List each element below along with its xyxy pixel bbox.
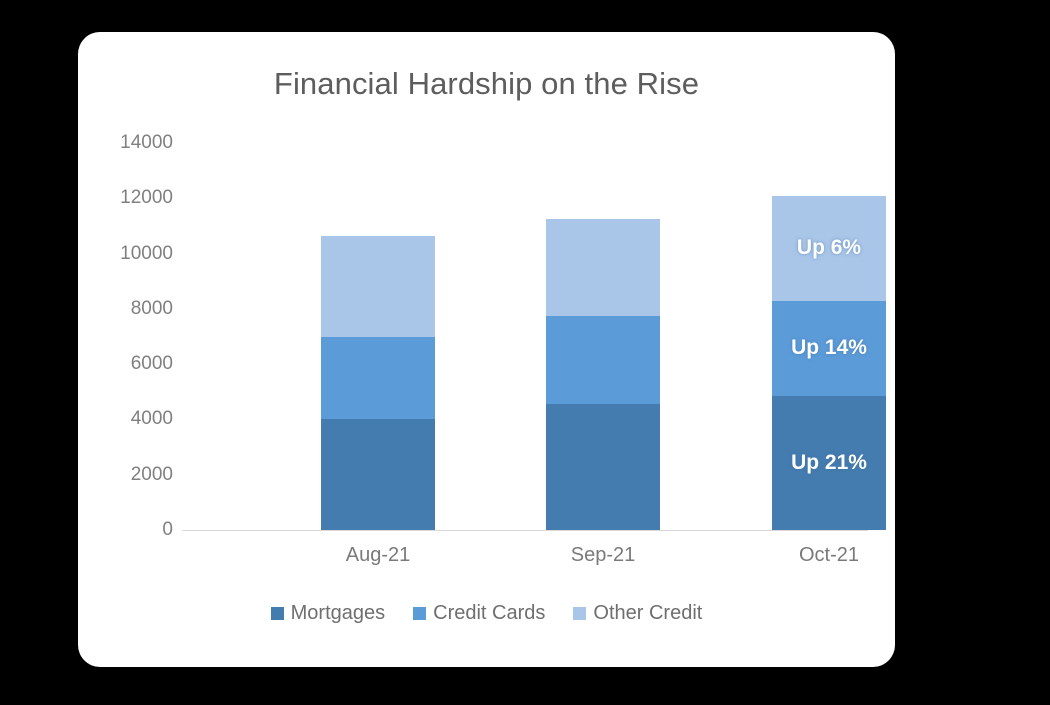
bar-segment[interactable]: Up 14% bbox=[772, 301, 886, 396]
y-axis-tick-label: 4000 bbox=[53, 408, 173, 430]
bar-segment[interactable] bbox=[321, 236, 435, 337]
bar-segment-annotation: Up 21% bbox=[772, 451, 886, 475]
legend-swatch-icon bbox=[573, 607, 586, 620]
screenshot-canvas: Financial Hardship on the Rise 140001200… bbox=[0, 0, 1050, 705]
x-axis-tick-label: Sep-21 bbox=[513, 544, 693, 567]
y-axis-tick-label: 14000 bbox=[53, 132, 173, 154]
legend-item[interactable]: Mortgages bbox=[271, 602, 386, 625]
bar-segment[interactable] bbox=[546, 316, 660, 404]
bar-segment-annotation: Up 6% bbox=[772, 236, 886, 260]
bar-group[interactable] bbox=[321, 236, 435, 530]
x-axis-tick-label: Oct-21 bbox=[739, 544, 919, 567]
y-axis-tick-label: 2000 bbox=[53, 464, 173, 486]
x-axis-tick-label: Aug-21 bbox=[288, 544, 468, 567]
x-axis-line bbox=[182, 530, 868, 531]
y-axis-tick-label: 0 bbox=[53, 519, 173, 541]
y-axis-tick-label: 8000 bbox=[53, 298, 173, 320]
bar-group[interactable] bbox=[546, 219, 660, 530]
legend-label: Other Credit bbox=[593, 602, 702, 625]
chart-legend: MortgagesCredit CardsOther Credit bbox=[78, 602, 895, 625]
bar-segment[interactable]: Up 6% bbox=[772, 196, 886, 301]
bar-segment[interactable] bbox=[546, 404, 660, 530]
y-axis-tick-label: 12000 bbox=[53, 187, 173, 209]
y-axis-tick-label: 10000 bbox=[53, 243, 173, 265]
legend-swatch-icon bbox=[413, 607, 426, 620]
legend-label: Credit Cards bbox=[433, 602, 545, 625]
bar-segment[interactable] bbox=[321, 419, 435, 530]
legend-item[interactable]: Other Credit bbox=[573, 602, 702, 625]
chart-card: Financial Hardship on the Rise 140001200… bbox=[78, 32, 895, 667]
bar-segment[interactable] bbox=[321, 337, 435, 420]
legend-label: Mortgages bbox=[291, 602, 386, 625]
legend-swatch-icon bbox=[271, 607, 284, 620]
legend-item[interactable]: Credit Cards bbox=[413, 602, 545, 625]
bar-segment-annotation: Up 14% bbox=[772, 336, 886, 360]
plot-area: 14000120001000080006000400020000 Up 21%U… bbox=[78, 32, 895, 667]
bar-group[interactable]: Up 21%Up 14%Up 6% bbox=[772, 196, 886, 530]
bar-segment[interactable]: Up 21% bbox=[772, 396, 886, 530]
bar-segment[interactable] bbox=[546, 219, 660, 316]
y-axis-tick-label: 6000 bbox=[53, 353, 173, 375]
